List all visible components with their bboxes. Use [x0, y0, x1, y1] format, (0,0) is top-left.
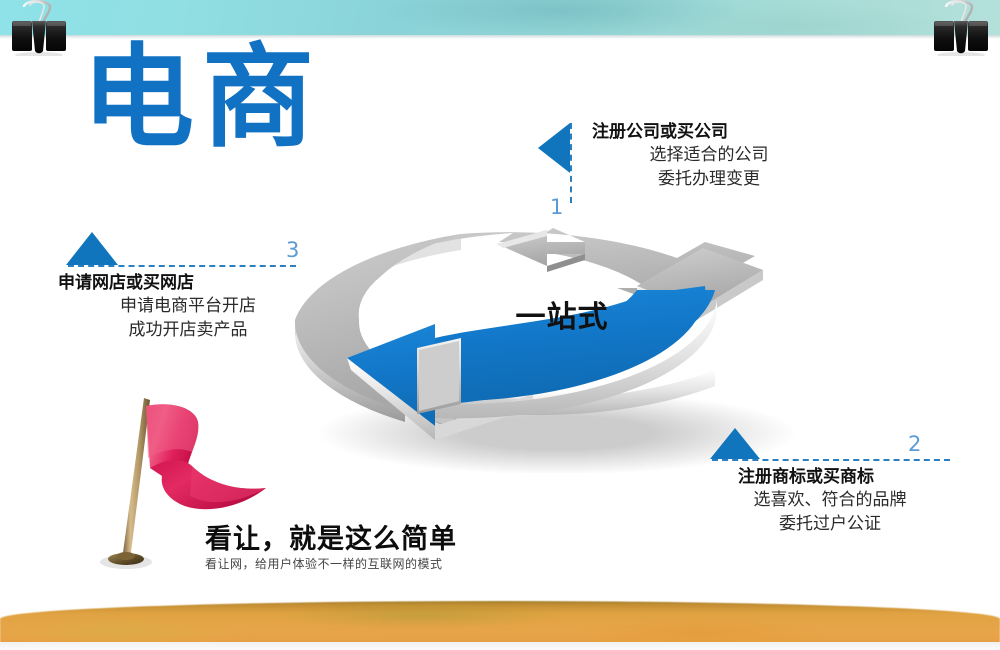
step-heading: 申请网店或买网店 — [58, 272, 318, 295]
step-heading: 注册公司或买公司 — [588, 121, 838, 144]
poster-canvas: 电商 — [0, 0, 1000, 650]
triangle-up-icon — [66, 232, 118, 265]
top-banner — [0, 0, 1000, 35]
step-line-2: 成功开店卖产品 — [58, 319, 318, 343]
binder-clip-icon — [10, 0, 68, 56]
step-number: 1 — [550, 197, 563, 218]
step-number: 3 — [286, 240, 299, 261]
step-number: 2 — [908, 434, 921, 455]
step-line-1: 选喜欢、符合的品牌 — [700, 489, 960, 513]
triangle-left-icon — [538, 123, 570, 173]
slogan-subtext: 看让网，给用户体验不一样的互联网的模式 — [205, 555, 443, 572]
dashed-connector — [68, 265, 296, 267]
bottom-edge — [0, 642, 1000, 650]
dashed-connector — [570, 123, 572, 203]
step-line-1: 选择适合的公司 — [588, 144, 838, 168]
slogan-text: 看让，就是这么简单 — [205, 517, 457, 556]
step-line-2: 委托过户公证 — [700, 513, 960, 537]
step-callout-1: 1 注册公司或买公司 选择适合的公司 委托办理变更 — [538, 115, 838, 192]
bottom-wheat-strip — [0, 601, 1000, 643]
step-line-1: 申请电商平台开店 — [58, 295, 318, 319]
dashed-connector — [712, 459, 950, 461]
triangle-up-icon — [710, 428, 760, 459]
center-label: 一站式 — [492, 292, 632, 336]
binder-clip-icon — [932, 0, 990, 56]
step-callout-3: 3 申请网店或买网店 申请电商平台开店 成功开店卖产品 — [58, 232, 318, 343]
step-heading: 注册商标或买商标 — [700, 466, 960, 489]
step-callout-2: 2 注册商标或买商标 选喜欢、符合的品牌 委托过户公证 — [700, 428, 960, 537]
step-line-2: 委托办理变更 — [588, 168, 838, 192]
page-title: 电商 — [82, 38, 322, 159]
step-text-group: 注册公司或买公司 选择适合的公司 委托办理变更 — [588, 115, 838, 192]
